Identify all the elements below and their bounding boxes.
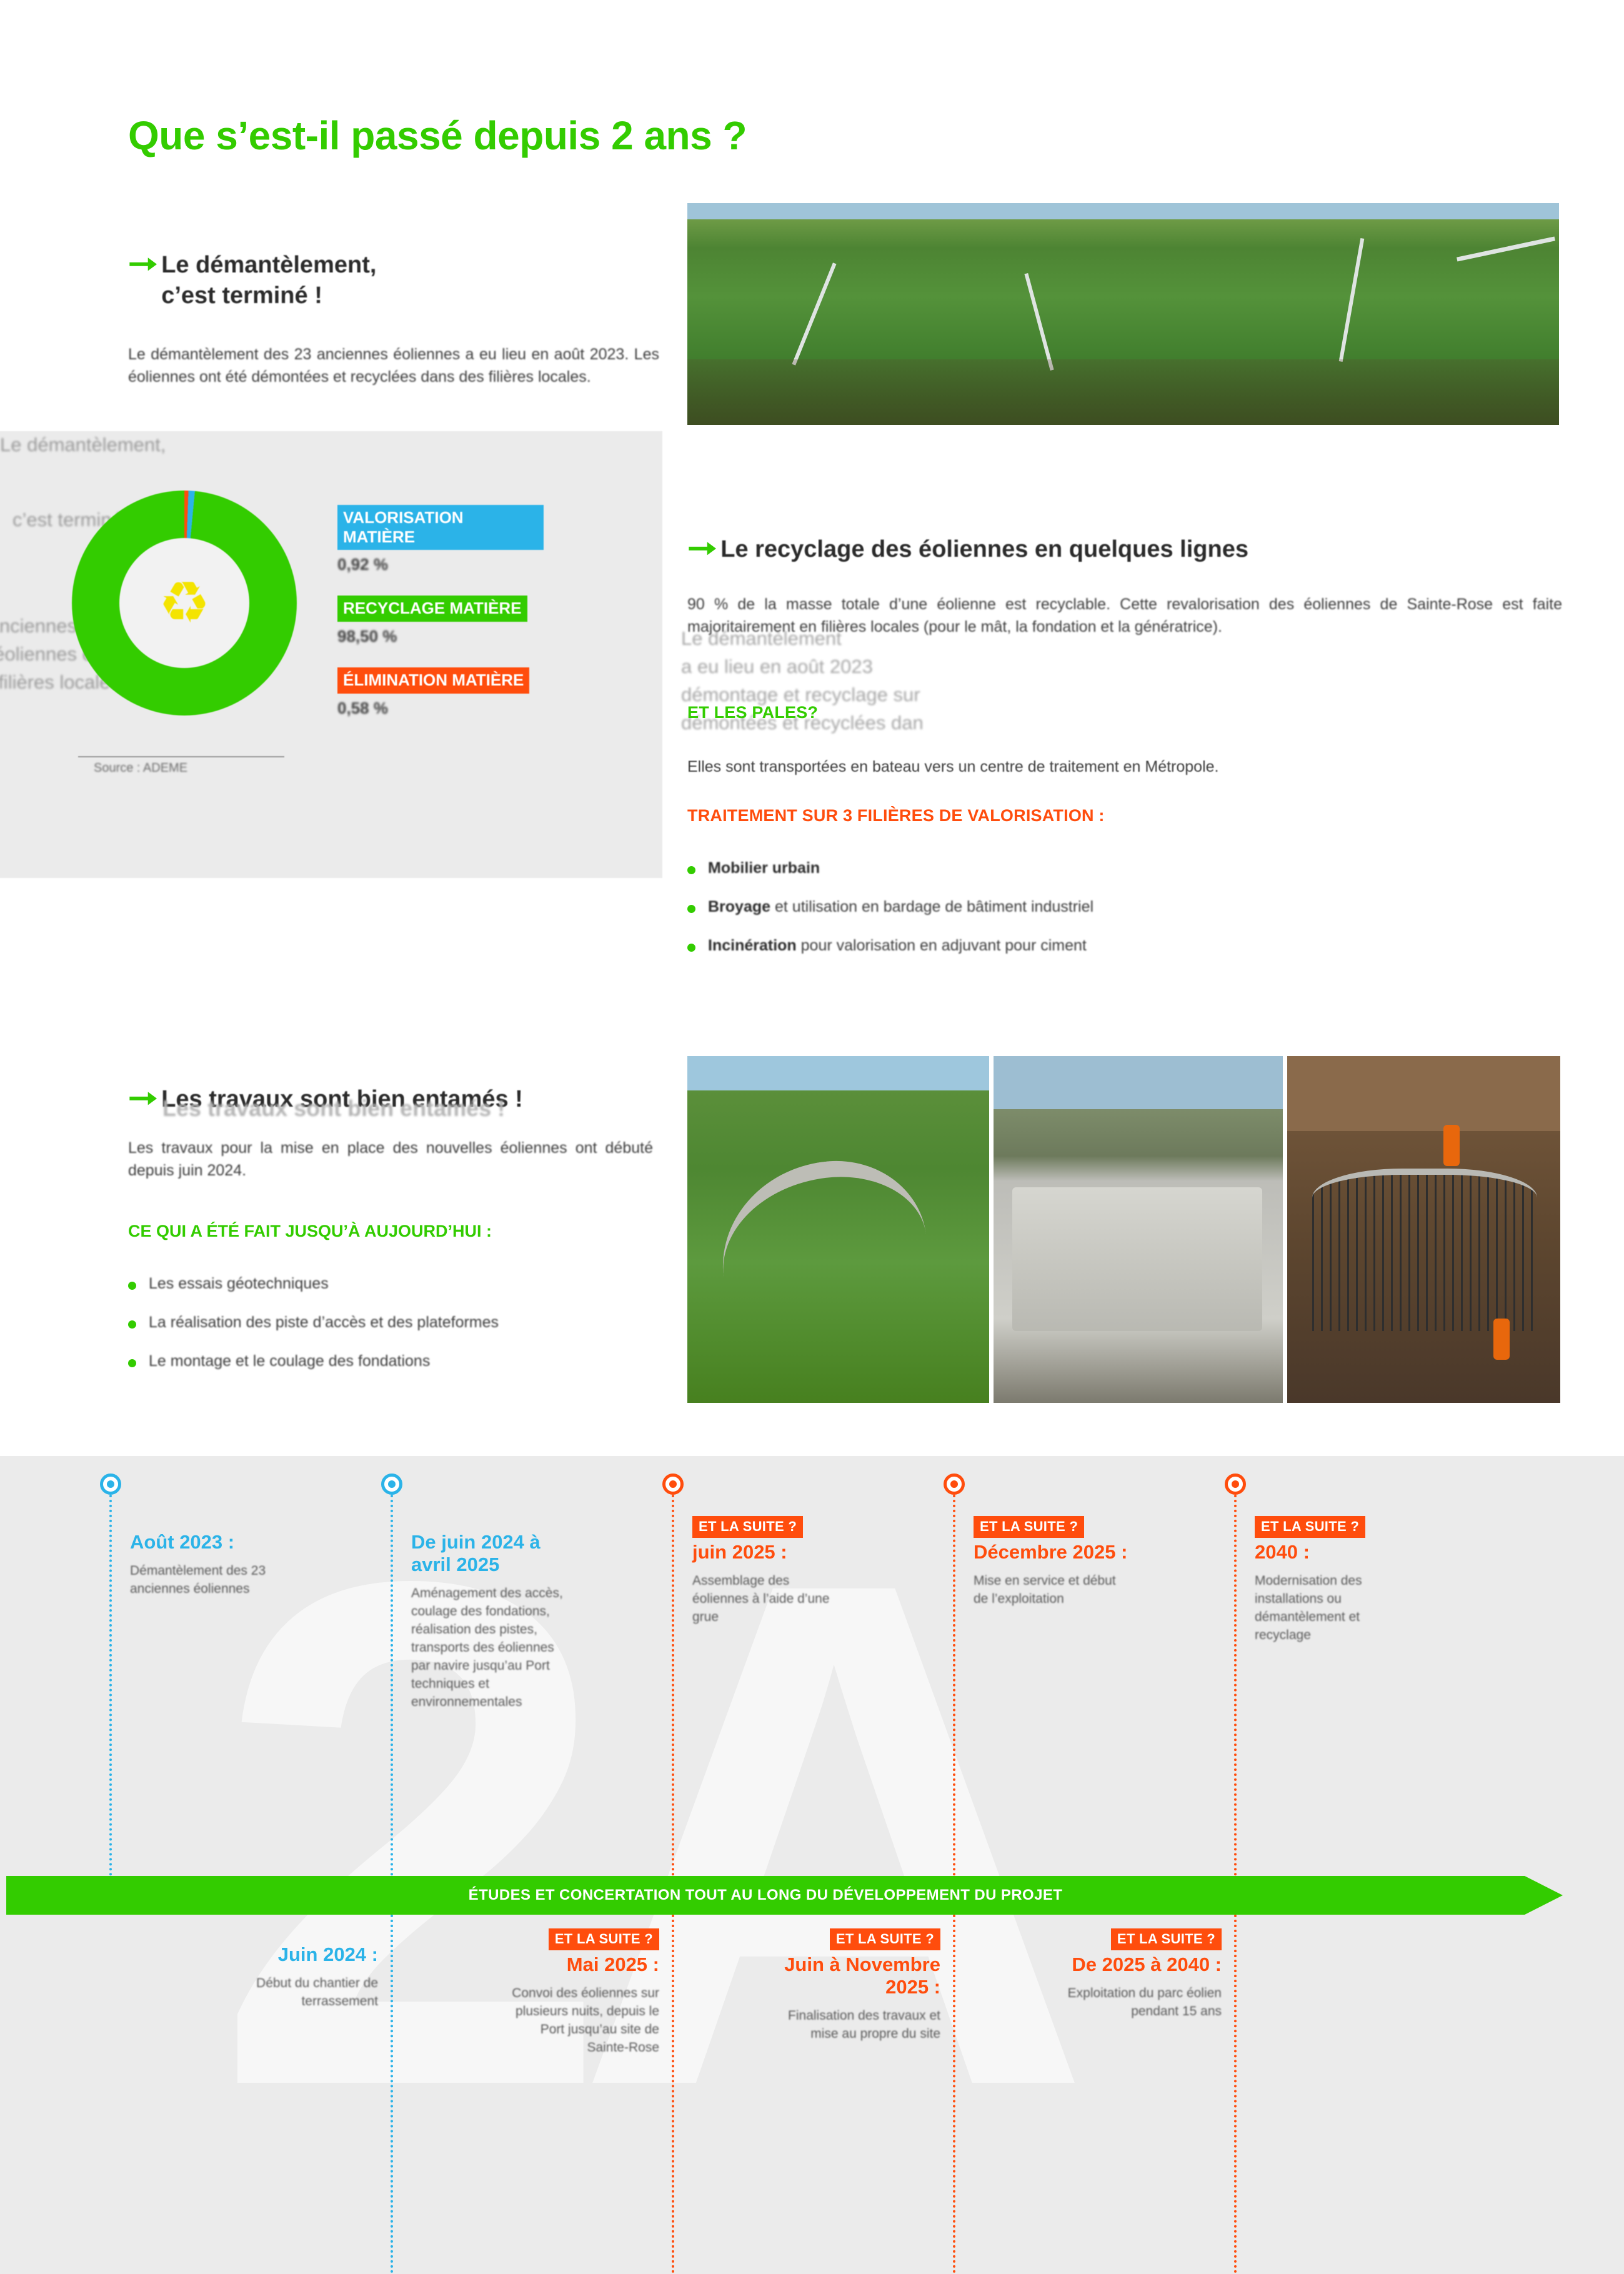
blades-body: Elles sont transportées en bateau vers u… <box>687 756 1562 779</box>
worker-1 <box>1443 1125 1460 1166</box>
chart-divider <box>78 756 284 757</box>
status-badge: ET LA SUITE ? <box>830 1928 940 1950</box>
ghost-works-side <box>0 1075 5 1100</box>
timeline-connector-2 <box>391 1495 393 1876</box>
legend-label-recyclage: RECYCLAGE MATIÈRE <box>337 596 527 622</box>
recycling-heading-text: Le recyclage des éoliennes en quelques l… <box>720 534 1248 565</box>
legend-item-recyclage: RECYCLAGE MATIÈRE 98,50 % <box>337 596 544 646</box>
photo-platform <box>994 1056 1283 1403</box>
timeline-desc: Convoi des éoliennes sur plusieurs nuits… <box>503 1985 659 2057</box>
dismantling-heading-line2: c’est terminé ! <box>161 281 376 311</box>
timeline-connector-9 <box>1234 1915 1237 2274</box>
bullet-label: Le montage et le coulage des fondations <box>149 1351 430 1372</box>
turbine-mast-3 <box>1339 238 1365 362</box>
donut-ring: ♻ <box>72 491 297 716</box>
bullet-dot-icon <box>128 1320 136 1329</box>
status-badge: ET LA SUITE ? <box>1111 1928 1222 1950</box>
works-body: Les travaux pour la mise en place des no… <box>128 1137 653 1182</box>
recycling-donut-chart: ♻ <box>72 491 297 716</box>
timeline-date: Mai 2025 : <box>503 1953 659 1976</box>
turbine-mast-1 <box>792 262 836 366</box>
treatment-bullet-list: Mobilier urbain Broyage et utilisation e… <box>687 840 1562 956</box>
status-badge: ET LA SUITE ? <box>974 1516 1084 1538</box>
worker-2 <box>1493 1319 1510 1360</box>
timeline-date: Décembre 2025 : <box>974 1541 1130 1563</box>
list-item: La réalisation des piste d’accès et des … <box>128 1312 678 1334</box>
timeline-date: Août 2023 : <box>130 1531 286 1553</box>
bullet-dot-icon <box>687 866 695 874</box>
document-top-section: Que s’est-il passé depuis 2 ans ? ➞ Le d… <box>0 0 1624 1456</box>
timeline-node-aout-2023[interactable] <box>100 1474 121 1495</box>
timeline-connector-7 <box>672 1915 674 2274</box>
timeline-node-juin-2025[interactable] <box>662 1474 684 1495</box>
timeline-desc: Mise en service et début de l’exploitati… <box>974 1572 1130 1608</box>
bullet-dot-icon <box>687 944 695 952</box>
timeline-connector-5 <box>1234 1495 1237 1876</box>
timeline-card-juin-novembre-2025: ET LA SUITE ? Juin à Novembre 2025 : Fin… <box>784 1928 940 2043</box>
timeline-date: De juin 2024 à avril 2025 <box>411 1531 567 1576</box>
timeline-node-decembre-2025[interactable] <box>944 1474 965 1495</box>
recycling-chart-panel: Le démantèlement, c’est terminé ! des 23… <box>0 431 662 878</box>
list-item: Les essais géotechniques <box>128 1274 678 1295</box>
bullet-dot-icon <box>128 1359 136 1367</box>
list-item: Incinération pour valorisation en adjuva… <box>687 935 1562 957</box>
recycling-heading: ➞ Le recyclage des éoliennes en quelques… <box>687 534 1248 565</box>
timeline-date: Juin à Novembre 2025 : <box>784 1953 940 1998</box>
photo-access-road <box>687 1056 989 1403</box>
legend-item-valorisation: VALORISATION MATIÈRE 0,92 % <box>337 505 544 574</box>
bullet-label: Broyage et utilisation en bardage de bât… <box>708 897 1093 918</box>
photo-dismantled-turbines <box>687 203 1559 425</box>
dismantling-heading: ➞ Le démantèlement, c’est terminé ! <box>128 250 376 311</box>
timeline-card-aout-2023: Août 2023 : Démantèlement des 23 ancienn… <box>130 1531 286 1598</box>
road-ribbon <box>711 1150 939 1362</box>
timeline-card-juin-2024: Juin 2024 : Début du chantier de terrass… <box>222 1943 378 2011</box>
timeline-date: Juin 2024 : <box>222 1943 378 1966</box>
project-timeline: 2A Août 2023 : Démantèlement des 23 anci… <box>0 1456 1624 2274</box>
dismantling-heading-line1: Le démantèlement, <box>161 250 376 281</box>
legend-value-valorisation: 0,92 % <box>337 555 544 574</box>
timeline-node-juin2024-avril2025[interactable] <box>381 1474 402 1495</box>
turbine-mast-2 <box>1024 273 1054 371</box>
timeline-desc: Modernisation des installations ou déman… <box>1255 1572 1411 1645</box>
bullet-label: Les essais géotechniques <box>149 1274 329 1295</box>
bullet-dot-icon <box>128 1282 136 1290</box>
works-done-heading: CE QUI A ÉTÉ FAIT JUSQU’À AUJOURD’HUI : <box>128 1222 492 1241</box>
timeline-card-2025-2040: ET LA SUITE ? De 2025 à 2040 : Exploitat… <box>1065 1928 1222 2021</box>
turbine-blade-1 <box>1457 236 1555 261</box>
bullet-label: Mobilier urbain <box>708 858 820 879</box>
timeline-card-juin2024-avril2025: De juin 2024 à avril 2025 Aménagement de… <box>411 1531 567 1712</box>
watermark-text: 2A <box>212 1475 1056 2193</box>
dismantling-body: Le démantèlement des 23 anciennes éolien… <box>128 344 659 388</box>
timeline-card-juin-2025: ET LA SUITE ? juin 2025 : Assemblage des… <box>692 1516 849 1627</box>
timeline-date: juin 2025 : <box>692 1541 849 1563</box>
arrow-right-icon: ➞ <box>128 251 158 276</box>
list-item: Mobilier urbain <box>687 858 1562 879</box>
bullet-dot-icon <box>687 905 695 913</box>
treatment-heading: TRAITEMENT SUR 3 FILIÈRES DE VALORISATIO… <box>687 806 1105 825</box>
timeline-connector-3 <box>672 1495 674 1876</box>
ghost-works-heading: Les travaux sont bien entamés ! <box>162 1092 505 1125</box>
timeline-connector-8 <box>953 1915 955 2274</box>
legend-item-elimination: ÉLIMINATION MATIÈRE 0,58 % <box>337 667 544 718</box>
bullet-label: Incinération pour valorisation en adjuva… <box>708 935 1087 957</box>
legend-label-valorisation: VALORISATION MATIÈRE <box>337 505 544 550</box>
page-title: Que s’est-il passé depuis 2 ans ? <box>128 112 747 159</box>
works-bullet-list: Les essais géotechniques La réalisation … <box>128 1256 678 1372</box>
photo-foundation <box>1287 1056 1560 1403</box>
timeline-card-mai-2025: ET LA SUITE ? Mai 2025 : Convoi des éoli… <box>503 1928 659 2057</box>
chart-source: Source : ADEME <box>94 761 187 775</box>
legend-value-elimination: 0,58 % <box>337 699 544 718</box>
timeline-banner: ÉTUDES ET CONCERTATION TOUT AU LONG DU D… <box>6 1876 1525 1915</box>
timeline-desc: Aménagement des accès, coulage des fonda… <box>411 1585 567 1712</box>
arrow-right-icon: ➞ <box>687 536 717 561</box>
timeline-node-2040[interactable] <box>1225 1474 1246 1495</box>
legend-label-elimination: ÉLIMINATION MATIÈRE <box>337 667 529 694</box>
arrow-right-icon: ➞ <box>128 1085 158 1110</box>
ghost-heading-text: Le démantèlement, <box>0 431 166 459</box>
timeline-desc: Finalisation des travaux et mise au prop… <box>784 2007 940 2043</box>
list-item: Le montage et le coulage des fondations <box>128 1351 678 1372</box>
timeline-desc: Exploitation du parc éolien pendant 15 a… <box>1065 1985 1222 2021</box>
timeline-card-2040: ET LA SUITE ? 2040 : Modernisation des i… <box>1255 1516 1411 1645</box>
recycling-body: 90 % de la masse totale d’une éolienne e… <box>687 594 1562 638</box>
timeline-connector-1 <box>109 1495 112 1876</box>
status-badge: ET LA SUITE ? <box>1255 1516 1365 1538</box>
status-badge: ET LA SUITE ? <box>692 1516 803 1538</box>
timeline-connector-6 <box>391 1915 393 2274</box>
timeline-desc: Début du chantier de terrassement <box>222 1975 378 2011</box>
timeline-connector-4 <box>953 1495 955 1876</box>
timeline-banner-text: ÉTUDES ET CONCERTATION TOUT AU LONG DU D… <box>469 1887 1063 1904</box>
list-item: Broyage et utilisation en bardage de bât… <box>687 897 1562 918</box>
bullet-label: La réalisation des piste d’accès et des … <box>149 1312 499 1334</box>
timeline-card-decembre-2025: ET LA SUITE ? Décembre 2025 : Mise en se… <box>974 1516 1130 1608</box>
rebar-cage <box>1312 1169 1537 1331</box>
recycle-icon: ♻ <box>159 574 210 632</box>
status-badge: ET LA SUITE ? <box>549 1928 659 1950</box>
legend-value-recyclage: 98,50 % <box>337 627 544 646</box>
timeline-date: De 2025 à 2040 : <box>1065 1953 1222 1976</box>
blades-heading: ET LES PALES? <box>687 703 818 722</box>
timeline-date: 2040 : <box>1255 1541 1411 1563</box>
donut-center: ♻ <box>119 538 249 668</box>
concrete-slab <box>1012 1187 1262 1331</box>
timeline-desc: Assemblage des éoliennes à l’aide d’une … <box>692 1572 849 1627</box>
ground-track <box>687 359 1559 425</box>
timeline-desc: Démantèlement des 23 anciennes éoliennes <box>130 1562 286 1598</box>
chart-legend: VALORISATION MATIÈRE 0,92 % RECYCLAGE MA… <box>337 505 544 739</box>
